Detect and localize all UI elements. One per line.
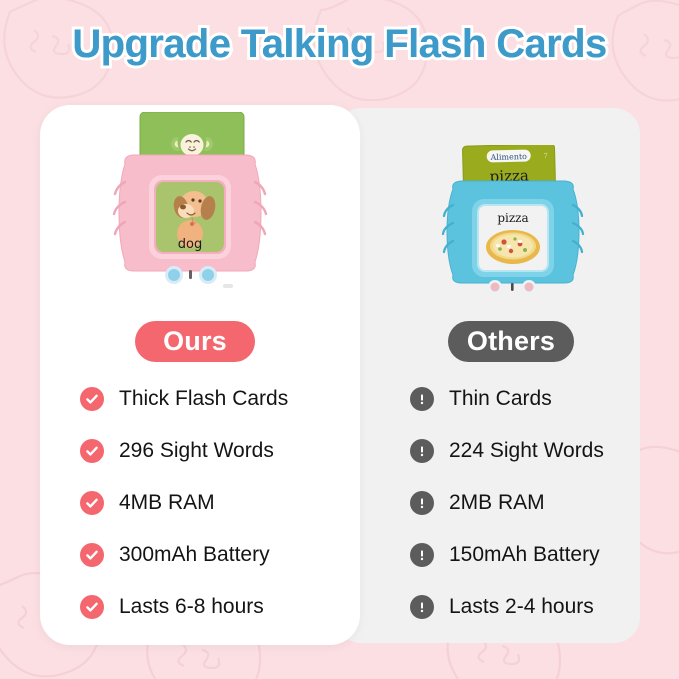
check-icon	[80, 491, 104, 515]
others-card-number: 7	[543, 152, 548, 160]
badge-others: Others	[448, 321, 574, 362]
ours-screen-word: dog	[178, 237, 202, 252]
ours-feature-row: 296 Sight Words	[80, 439, 274, 463]
check-icon	[80, 387, 104, 411]
ours-device: dog	[95, 112, 285, 307]
others-feature-row: Thin Cards	[410, 387, 552, 411]
others-feature-label: Lasts 2-4 hours	[449, 595, 594, 619]
others-feature-label: 2MB RAM	[449, 491, 545, 515]
ours-feature-label: Thick Flash Cards	[119, 387, 288, 411]
ours-feature-label: 300mAh Battery	[119, 543, 270, 567]
others-feature-row: Lasts 2-4 hours	[410, 595, 594, 619]
badge-ours: Ours	[135, 321, 255, 362]
ours-feature-label: 4MB RAM	[119, 491, 215, 515]
others-feature-label: 150mAh Battery	[449, 543, 600, 567]
others-device: Alimento 7 pizza pizza	[425, 145, 605, 310]
infographic-canvas: Upgrade Talking Flash Cards Upgrade Talk…	[0, 0, 679, 679]
others-feature-row: 2MB RAM	[410, 491, 545, 515]
others-device-body: pizza	[443, 181, 583, 294]
check-icon	[80, 595, 104, 619]
check-icon	[80, 439, 104, 463]
exclamation-icon	[410, 387, 434, 411]
others-card-badge: Alimento	[489, 152, 527, 162]
ours-feature-row: Lasts 6-8 hours	[80, 595, 264, 619]
ours-device-body: dog	[114, 155, 266, 288]
others-feature-row: 224 Sight Words	[410, 439, 604, 463]
ours-feature-label: Lasts 6-8 hours	[119, 595, 264, 619]
page-title: Upgrade Talking Flash Cards	[0, 22, 679, 67]
others-feature-row: 150mAh Battery	[410, 543, 600, 567]
ours-feature-row: 300mAh Battery	[80, 543, 270, 567]
exclamation-icon	[410, 595, 434, 619]
ours-feature-label: 296 Sight Words	[119, 439, 274, 463]
pizza-photo	[486, 230, 540, 264]
exclamation-icon	[410, 439, 434, 463]
others-feature-label: Thin Cards	[449, 387, 552, 411]
exclamation-icon	[410, 543, 434, 567]
others-screen-word: pizza	[497, 211, 528, 225]
ours-feature-row: 4MB RAM	[80, 491, 215, 515]
exclamation-icon	[410, 491, 434, 515]
others-feature-label: 224 Sight Words	[449, 439, 604, 463]
ours-feature-row: Thick Flash Cards	[80, 387, 288, 411]
check-icon	[80, 543, 104, 567]
